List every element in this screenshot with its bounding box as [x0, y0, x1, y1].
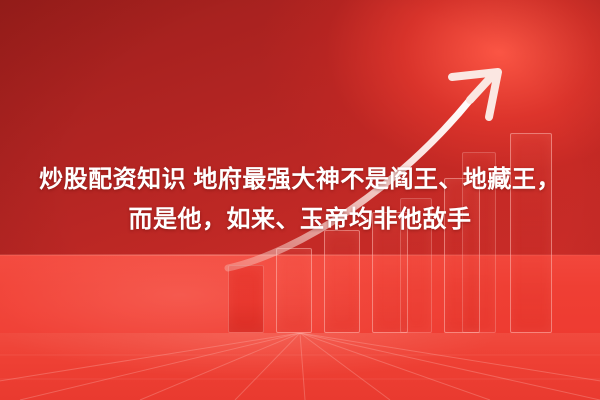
banner-image: 炒股配资知识 地府最强大神不是阎王、地藏王， 而是他，如来、玉帝均非他敌手	[0, 0, 600, 400]
headline-line-1: 炒股配资知识 地府最强大神不是阎王、地藏王，	[14, 160, 586, 200]
perspective-floor	[0, 333, 600, 400]
chart-bar	[276, 248, 312, 333]
page-title: 炒股配资知识 地府最强大神不是阎王、地藏王， 而是他，如来、玉帝均非他敌手	[0, 160, 600, 240]
chart-bar	[228, 265, 264, 333]
headline-line-2: 而是他，如来、玉帝均非他敌手	[14, 200, 586, 240]
chart-bar	[324, 230, 360, 333]
